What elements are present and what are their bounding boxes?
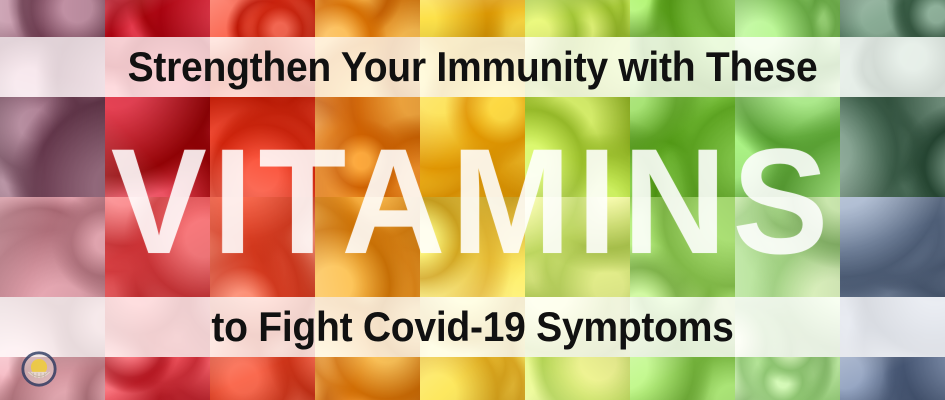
mosaic-tile-cucumber-grapes xyxy=(735,357,840,400)
mosaic-tile-red-grapes xyxy=(0,0,105,37)
mosaic-tile-orange-juice-lemon xyxy=(420,357,525,400)
mosaic-tile-lime-cabbage xyxy=(525,0,630,37)
tile-sheen xyxy=(630,0,735,37)
mosaic-tile-cucumber-grapes xyxy=(735,0,840,37)
vitamins-banner: VITAMINS Strengthen Your Immunity with T… xyxy=(0,0,945,400)
mosaic-tile-orange-juice-lemon xyxy=(420,0,525,37)
mosaic-tile-lettuce-greens xyxy=(630,357,735,400)
tile-sheen xyxy=(840,0,945,37)
tile-sheen xyxy=(525,0,630,37)
mosaic-tile-cherries-strawberries xyxy=(105,357,210,400)
mosaic-tile-tomato xyxy=(210,357,315,400)
tile-sheen xyxy=(210,357,315,400)
mosaic-tile-orange-peppers xyxy=(315,357,420,400)
mosaic-tile-lettuce-greens xyxy=(630,0,735,37)
tile-sheen xyxy=(315,357,420,400)
mosaic-tile-broccoli-blueberries xyxy=(840,357,945,400)
tile-sheen xyxy=(315,0,420,37)
tile-sheen xyxy=(525,357,630,400)
mosaic-tile-orange-peppers xyxy=(315,0,420,37)
tile-sheen xyxy=(0,0,105,37)
tile-sheen xyxy=(105,357,210,400)
tile-sheen xyxy=(210,0,315,37)
headline-text: Strengthen Your Immunity with These xyxy=(33,44,912,90)
tile-sheen xyxy=(630,357,735,400)
mosaic-tile-cherries-strawberries xyxy=(105,0,210,37)
tile-sheen xyxy=(840,357,945,400)
mosaic-tile-lime-cabbage xyxy=(525,357,630,400)
tile-sheen xyxy=(420,0,525,37)
subline-text: to Fight Covid-19 Symptoms xyxy=(33,304,912,350)
tile-sheen xyxy=(105,0,210,37)
tile-sheen xyxy=(735,0,840,37)
sun-bowl-logo xyxy=(20,350,58,388)
tile-sheen xyxy=(735,357,840,400)
wordmark-vitamins: VITAMINS xyxy=(19,116,926,286)
tile-sheen xyxy=(420,357,525,400)
mosaic-tile-tomato xyxy=(210,0,315,37)
mosaic-tile-broccoli-blueberries xyxy=(840,0,945,37)
